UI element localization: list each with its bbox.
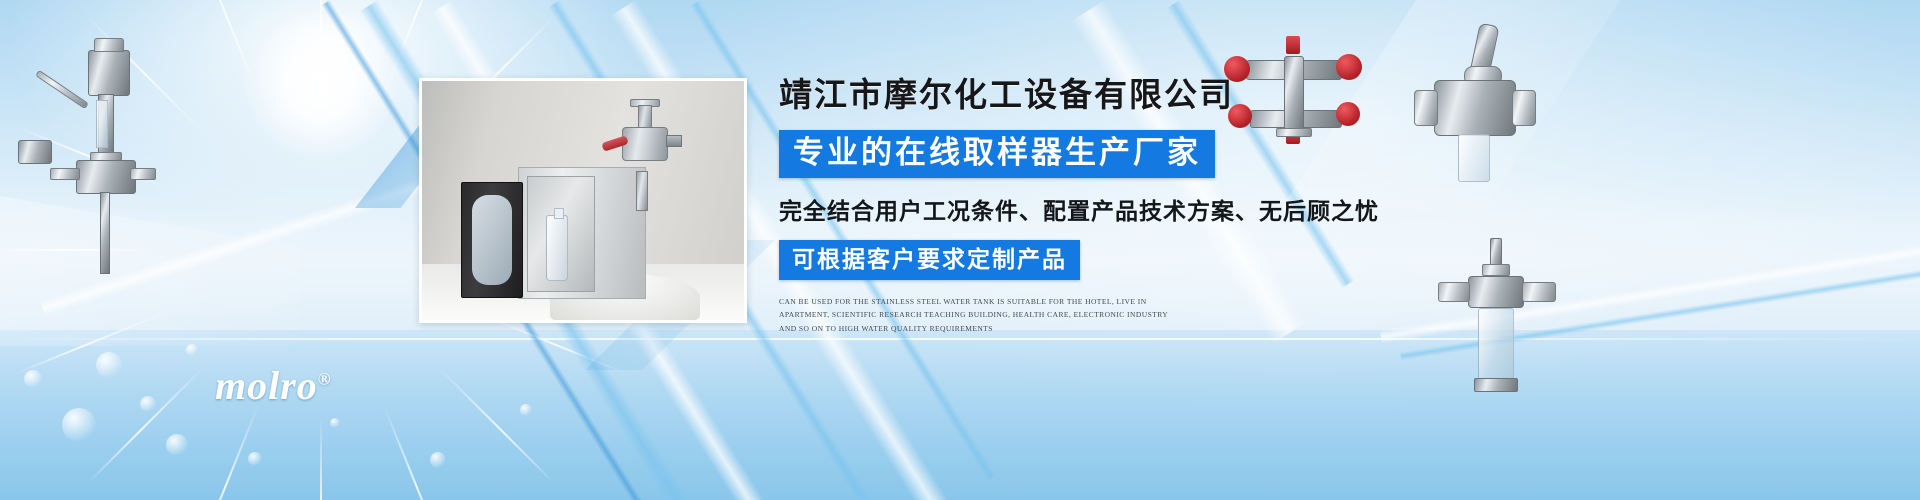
actuator-valve-equipment <box>1412 24 1542 194</box>
sun-ray <box>320 0 322 85</box>
photo-valve-head <box>608 103 682 175</box>
water-droplet <box>166 434 188 456</box>
banner-text-column: 靖江市摩尔化工设备有限公司 专业的在线取样器生产厂家 完全结合用户工况条件、配置… <box>779 78 1419 336</box>
company-name: 靖江市摩尔化工设备有限公司 <box>779 78 1419 116</box>
left-sampler-equipment <box>10 28 160 278</box>
actuator-sight-glass <box>1458 134 1490 182</box>
photo-connecting-stem <box>636 171 648 211</box>
sampler-housing <box>88 50 130 96</box>
lower-water-gradient <box>0 330 1920 500</box>
photo-sample-bottle <box>546 215 568 281</box>
sampler-upper-arm <box>35 70 89 109</box>
subheadline: 完全结合用户工况条件、配置产品技术方案、无后顾之忧 <box>779 192 1419 226</box>
photo-valve-outlet-pipe <box>666 135 682 147</box>
bottom-right-sampler-equipment <box>1428 238 1578 400</box>
sampler-right-port <box>1522 282 1556 302</box>
brand-logo: molro® <box>215 362 332 409</box>
registered-trademark-icon: ® <box>318 370 332 389</box>
sampler-body <box>1468 276 1524 308</box>
sampler-top-nut <box>1482 264 1510 276</box>
valve-handwheel <box>1336 54 1362 80</box>
water-droplet <box>24 370 42 388</box>
valve-stem <box>1286 36 1300 54</box>
sampler-bottom-cap <box>1474 378 1518 392</box>
sampler-cap <box>94 38 124 52</box>
sun-ray <box>320 415 322 500</box>
water-droplet <box>248 452 262 466</box>
water-droplet <box>520 404 532 416</box>
sampler-valve-body <box>76 160 136 194</box>
product-photo <box>419 78 747 323</box>
sampler-left-port <box>1438 282 1470 302</box>
callout-highlight: 可根据客户要求定制产品 <box>779 240 1080 280</box>
water-droplet <box>186 344 198 356</box>
actuator-right-flange <box>1512 90 1536 126</box>
water-droplet <box>140 396 156 412</box>
photo-cabinet-interior <box>527 176 595 292</box>
photo-door-window <box>472 195 512 285</box>
photo-valve-body <box>622 127 668 161</box>
water-droplet <box>62 408 96 442</box>
water-droplet <box>96 352 122 378</box>
water-droplet <box>330 418 340 428</box>
promotional-banner: 靖江市摩尔化工设备有限公司 专业的在线取样器生产厂家 完全结合用户工况条件、配置… <box>0 0 1920 500</box>
brand-logo-text: molro <box>215 363 318 408</box>
water-droplet <box>430 452 446 468</box>
sampler-side-port <box>50 168 80 180</box>
sampler-lower-stem <box>100 192 110 274</box>
english-fineprint: CAN BE USED FOR THE STAINLESS STEEL WATE… <box>779 295 1179 337</box>
photo-cabinet-door <box>461 182 523 298</box>
sampler-glass-tube <box>96 100 108 148</box>
sampler-glass-cylinder <box>1478 308 1514 380</box>
headline-highlight: 专业的在线取样器生产厂家 <box>779 130 1215 178</box>
photo-sampler-cabinet <box>518 167 646 299</box>
sampler-side-port <box>130 168 156 180</box>
sampler-left-fitting <box>18 140 52 164</box>
actuator-gearbox <box>1434 80 1516 136</box>
